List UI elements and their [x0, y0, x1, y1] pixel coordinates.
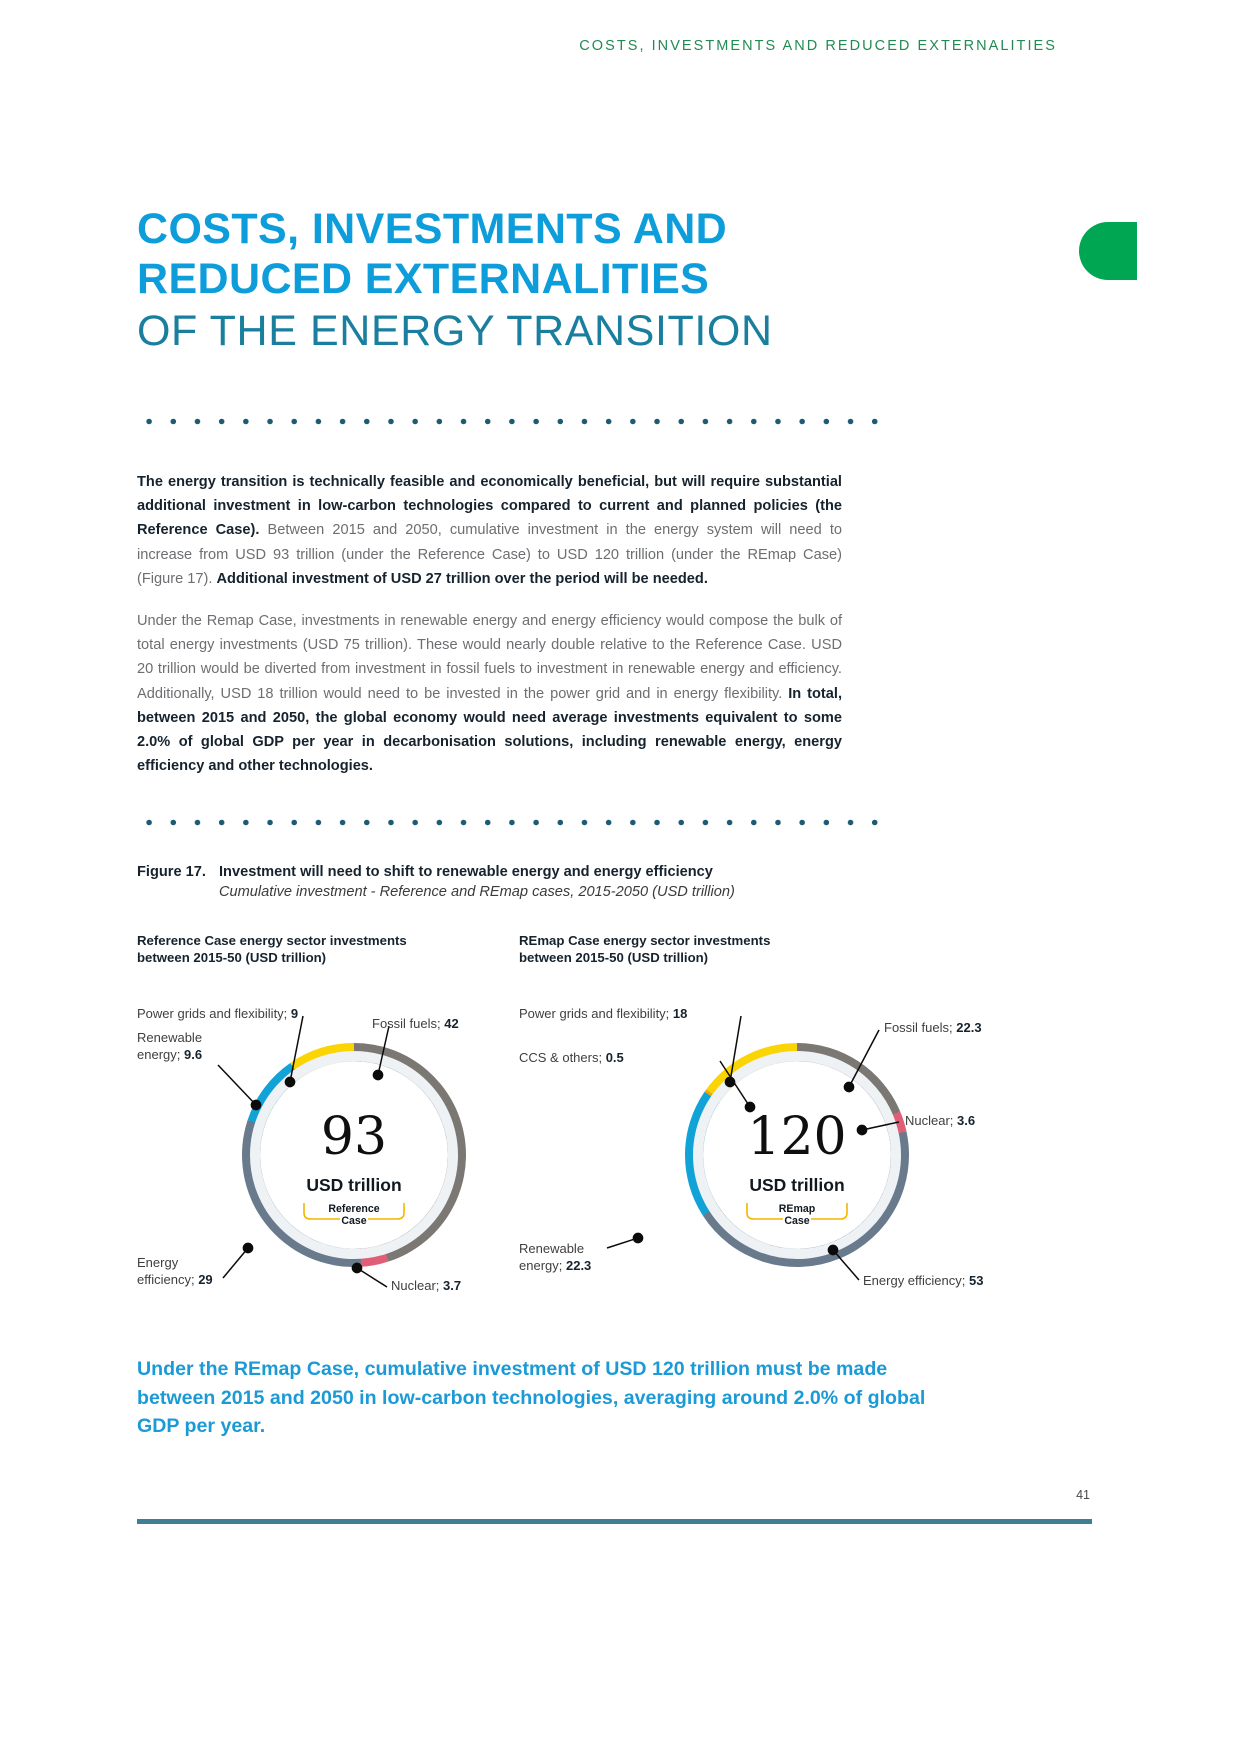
remap-case-chart-heading-line-2: between 2015-50 (USD trillion)	[519, 950, 770, 967]
label-reference-renewable-energy-value: 9.6	[184, 1047, 202, 1062]
reference-case-chart-heading-line-2: between 2015-50 (USD trillion)	[137, 950, 407, 967]
remap-case-chart-heading-line-1: REmap Case energy sector investments	[519, 933, 770, 950]
remap-case-center-case-line-1: REmap	[657, 1204, 937, 1216]
label-remap-renewable-energy: Renewable energy; 22.3	[519, 1241, 591, 1274]
label-remap-nuclear-value: 3.6	[957, 1113, 975, 1128]
running-header: COSTS, INVESTMENTS AND REDUCED EXTERNALI…	[579, 38, 1057, 54]
label-remap-renewable-energy-text: energy;	[519, 1258, 566, 1273]
reference-case-center-case-line-2: Case	[214, 1216, 494, 1228]
label-reference-renewable-energy: Renewable energy; 9.6	[137, 1030, 202, 1063]
reference-case-center-case: Reference Case	[214, 1204, 494, 1227]
remap-case-center-unit: USD trillion	[657, 1175, 937, 1196]
label-remap-ccs-others-text: CCS & others;	[519, 1050, 606, 1065]
label-remap-power-grids-value: 18	[673, 1006, 687, 1021]
paragraph-1: The energy transition is technically fea…	[137, 470, 842, 591]
reference-case-chart-heading: Reference Case energy sector investments…	[137, 933, 407, 966]
label-remap-renewable-energy-line-1: Renewable	[519, 1241, 591, 1258]
label-reference-power-grids-text: Power grids and flexibility;	[137, 1006, 291, 1021]
label-reference-fossil-fuels: Fossil fuels; 42	[372, 1016, 459, 1033]
page-title-line-1: COSTS, INVESTMENTS AND	[137, 204, 897, 254]
reference-case-center-case-line-1: Reference	[214, 1204, 494, 1216]
page-number: 41	[1076, 1488, 1090, 1502]
footer-rule	[137, 1519, 1092, 1524]
label-reference-nuclear: Nuclear; 3.7	[391, 1278, 461, 1295]
label-reference-renewable-energy-line-1: Renewable	[137, 1030, 202, 1047]
body-text-column: The energy transition is technically fea…	[137, 470, 842, 778]
label-remap-energy-efficiency-text: Energy efficiency;	[863, 1273, 969, 1288]
label-reference-energy-efficiency-value: 29	[198, 1272, 212, 1287]
label-reference-renewable-energy-line-2: energy; 9.6	[137, 1047, 202, 1064]
remap-case-chart-heading: REmap Case energy sector investments bet…	[519, 933, 770, 966]
figure-number: Figure 17.	[137, 864, 219, 880]
green-semicircle-decoration	[1079, 222, 1137, 280]
label-remap-energy-efficiency-value: 53	[969, 1273, 983, 1288]
label-remap-energy-efficiency: Energy efficiency; 53	[863, 1273, 983, 1290]
label-remap-fossil-fuels-value: 22.3	[956, 1020, 981, 1035]
label-remap-renewable-energy-line-2: energy; 22.3	[519, 1258, 591, 1275]
figure-title: Investment will need to shift to renewab…	[219, 864, 713, 880]
figure-caption-row: Figure 17.Investment will need to shift …	[137, 864, 897, 880]
reference-case-center-value: 93	[214, 1111, 494, 1163]
page-title-line-2: REDUCED EXTERNALITIES	[137, 254, 897, 304]
label-remap-power-grids: Power grids and flexibility; 18	[519, 1006, 687, 1023]
reference-case-center-unit: USD trillion	[214, 1175, 494, 1196]
page-title: COSTS, INVESTMENTS AND REDUCED EXTERNALI…	[137, 204, 897, 358]
remap-case-center-value: 120	[657, 1111, 937, 1163]
label-reference-energy-efficiency-line-2: efficiency; 29	[137, 1272, 213, 1289]
paragraph-1-trailing-bold: Additional investment of USD 27 trillion…	[216, 571, 707, 587]
paragraph-2: Under the Remap Case, investments in ren…	[137, 609, 842, 778]
dotted-divider-top	[137, 418, 887, 425]
remap-case-center-case: REmap Case	[657, 1204, 937, 1227]
reference-case-chart-heading-line-1: Reference Case energy sector investments	[137, 933, 407, 950]
label-reference-nuclear-value: 3.7	[443, 1278, 461, 1293]
label-reference-energy-efficiency-line-1: Energy	[137, 1255, 213, 1272]
page-title-line-3: OF THE ENERGY TRANSITION	[137, 304, 897, 358]
figure-17-charts: Reference Case energy sector investments…	[137, 930, 1097, 1320]
label-remap-fossil-fuels: Fossil fuels; 22.3	[884, 1020, 982, 1037]
label-reference-nuclear-text: Nuclear;	[391, 1278, 443, 1293]
figure-subtitle: Cumulative investment - Reference and RE…	[219, 884, 897, 900]
label-remap-power-grids-text: Power grids and flexibility;	[519, 1006, 673, 1021]
paragraph-2-plain: Under the Remap Case, investments in ren…	[137, 613, 842, 702]
label-reference-power-grids: Power grids and flexibility; 9	[137, 1006, 298, 1023]
label-remap-renewable-energy-value: 22.3	[566, 1258, 591, 1273]
label-reference-renewable-energy-text: energy;	[137, 1047, 184, 1062]
label-reference-energy-efficiency: Energy efficiency; 29	[137, 1255, 213, 1288]
remap-case-center-case-line-2: Case	[657, 1216, 937, 1228]
reference-case-donut: 93 USD trillion Reference Case	[214, 1015, 494, 1295]
label-reference-fossil-fuels-text: Fossil fuels;	[372, 1016, 444, 1031]
label-remap-nuclear: Nuclear; 3.6	[905, 1113, 975, 1130]
remap-case-donut: 120 USD trillion REmap Case	[657, 1015, 937, 1295]
label-remap-nuclear-text: Nuclear;	[905, 1113, 957, 1128]
label-remap-ccs-others-value: 0.5	[606, 1050, 624, 1065]
label-remap-ccs-others: CCS & others; 0.5	[519, 1050, 624, 1067]
dotted-divider-bottom	[137, 819, 887, 826]
figure-caption: Figure 17.Investment will need to shift …	[137, 864, 897, 900]
label-reference-power-grids-value: 9	[291, 1006, 298, 1021]
label-reference-energy-efficiency-text: efficiency;	[137, 1272, 198, 1287]
label-remap-fossil-fuels-text: Fossil fuels;	[884, 1020, 956, 1035]
closing-statement: Under the REmap Case, cumulative investm…	[137, 1355, 927, 1441]
label-reference-fossil-fuels-value: 42	[444, 1016, 458, 1031]
